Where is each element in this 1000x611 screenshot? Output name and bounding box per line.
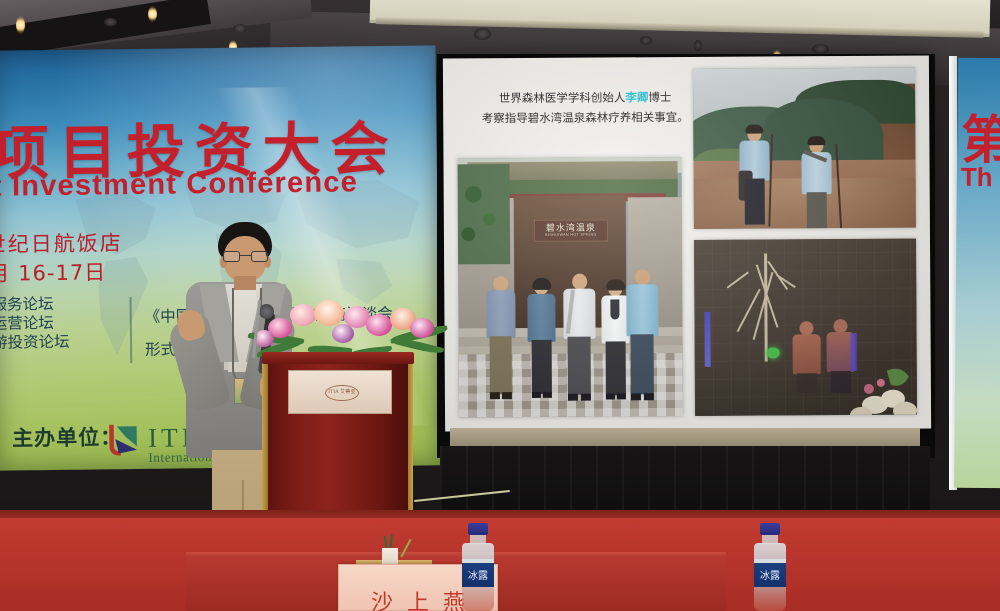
conference-stage-photo: 游项目投资大会 oject Investment Conference 新世纪日… — [0, 0, 1000, 611]
projection-screen: 世界森林医学学科创始人李卿博士 考察指导碧水湾温泉森林疗养相关事宜。 碧水湾温泉… — [443, 56, 931, 432]
person-hair — [807, 136, 825, 145]
flower-bloom — [366, 314, 392, 336]
person-torso — [626, 284, 658, 336]
person-hair — [745, 125, 763, 134]
person-torso — [793, 334, 821, 374]
podium-logo-text: ITIA 艾蒂亚 — [325, 388, 359, 395]
speaker-neck — [234, 276, 256, 290]
banner-venue: 新世纪日航饭店 — [0, 227, 123, 259]
ceiling-downlight-icon — [694, 40, 702, 51]
resort-sign-english: BISHUIWAN HOT SPRING — [534, 232, 608, 236]
podium-top-rail — [262, 352, 414, 364]
banner-forum-list: 划与服务论坛 项目运营论坛 态旅游投资论坛 — [0, 295, 70, 353]
ceiling-downlight-icon — [104, 18, 117, 26]
photo-person — [624, 269, 661, 401]
person-shoe — [644, 393, 654, 400]
flower-bloom — [332, 324, 354, 343]
person-legs — [490, 336, 512, 394]
spotlight-icon — [148, 6, 157, 22]
foreground-flowers — [847, 365, 917, 416]
person-legs — [606, 341, 626, 395]
ceiling-downlight-icon — [812, 44, 829, 54]
slide-caption: 世界森林医学学科创始人李卿博士 考察指导碧水湾温泉森林疗养相关事宜。 — [475, 87, 695, 128]
slide-caption-prefix: 世界森林医学学科创始人 — [499, 90, 626, 105]
person-head — [799, 321, 813, 335]
ceiling-downlight-icon — [233, 24, 247, 33]
bottle-brand-text: 冰露 — [754, 567, 786, 582]
bottle-label: 冰露 — [462, 563, 494, 587]
green-lamp-icon — [767, 347, 780, 358]
bottle-cap — [760, 523, 780, 535]
person-shoe — [490, 392, 500, 399]
person-shoe — [606, 393, 615, 399]
screen-bottom-trim — [450, 428, 920, 448]
ceiling-downlight-icon — [474, 28, 491, 40]
banner-title-english: oject Investment Conference — [0, 166, 358, 204]
person-head — [572, 274, 587, 290]
person-shoe — [532, 392, 541, 398]
forum-item: 划与服务论坛 — [0, 295, 69, 315]
person-legs — [797, 373, 817, 393]
bottle-brand-text: 冰露 — [462, 567, 494, 582]
podium-logo-plaque: ITIA 艾蒂亚 — [288, 370, 392, 414]
person-shoe — [543, 392, 552, 398]
photo-person — [562, 274, 597, 402]
person-legs — [631, 334, 654, 394]
banner-dates: 6月 16-17日 — [0, 256, 106, 288]
photo-person — [737, 126, 772, 228]
photo-person — [790, 321, 822, 393]
person-head — [635, 269, 650, 285]
glasses-bridge — [240, 255, 251, 256]
person-head — [493, 276, 508, 291]
bottle-label: 冰露 — [754, 563, 786, 587]
bottle-neck — [470, 534, 486, 544]
forum-item: 态旅游投资论坛 — [0, 333, 70, 353]
slide-photo-group: 碧水湾温泉 BISHUIWAN HOT SPRING — [457, 157, 683, 417]
person-hair — [606, 279, 625, 290]
flower-bloom — [410, 318, 434, 338]
forum-item: 项目运营论坛 — [0, 314, 69, 334]
person-legs — [568, 337, 591, 395]
person-legs — [532, 340, 552, 394]
bottle-cap — [468, 523, 488, 535]
photo-person — [799, 138, 834, 229]
itia-logo-icon — [106, 419, 142, 457]
slide-caption-suffix: 博士 — [648, 90, 671, 104]
glasses-lens-left — [223, 251, 240, 262]
person-torso — [486, 290, 515, 338]
slide-caption-line2: 考察指导碧水湾温泉森林疗养相关事宜。 — [482, 110, 689, 125]
person-hair — [532, 278, 551, 290]
water-bottle-icon: 冰露 — [751, 523, 789, 611]
slide-photo-night-hot-spring — [694, 239, 917, 416]
water-bottle-icon: 冰露 — [459, 523, 497, 611]
person-shoe — [502, 392, 512, 399]
photo-foliage — [458, 164, 511, 264]
person-shoe — [631, 393, 641, 400]
ceiling-downlight-icon — [640, 36, 652, 45]
secondary-banner-title-english: Th — [961, 162, 993, 193]
bottle-neck — [762, 534, 778, 544]
person-torso — [527, 294, 555, 342]
person-legs — [745, 179, 765, 225]
person-shoe — [581, 394, 591, 401]
slide-photo-hiking — [693, 68, 916, 229]
speaker-glasses-icon — [223, 251, 268, 263]
glasses-lens-right — [251, 251, 268, 262]
secondary-banner: 第 Th — [954, 58, 1000, 488]
spotlight-icon — [16, 16, 25, 34]
photo-person — [526, 280, 557, 400]
slide-caption-highlight: 李卿 — [625, 90, 648, 104]
photo-person — [484, 276, 517, 400]
person-shoe — [568, 394, 578, 401]
flower-bloom — [290, 304, 316, 326]
blue-light-reflection — [704, 312, 710, 367]
neckline — [610, 299, 619, 319]
person-legs — [807, 192, 827, 228]
person-head — [833, 319, 847, 333]
flower-bloom — [314, 300, 344, 326]
